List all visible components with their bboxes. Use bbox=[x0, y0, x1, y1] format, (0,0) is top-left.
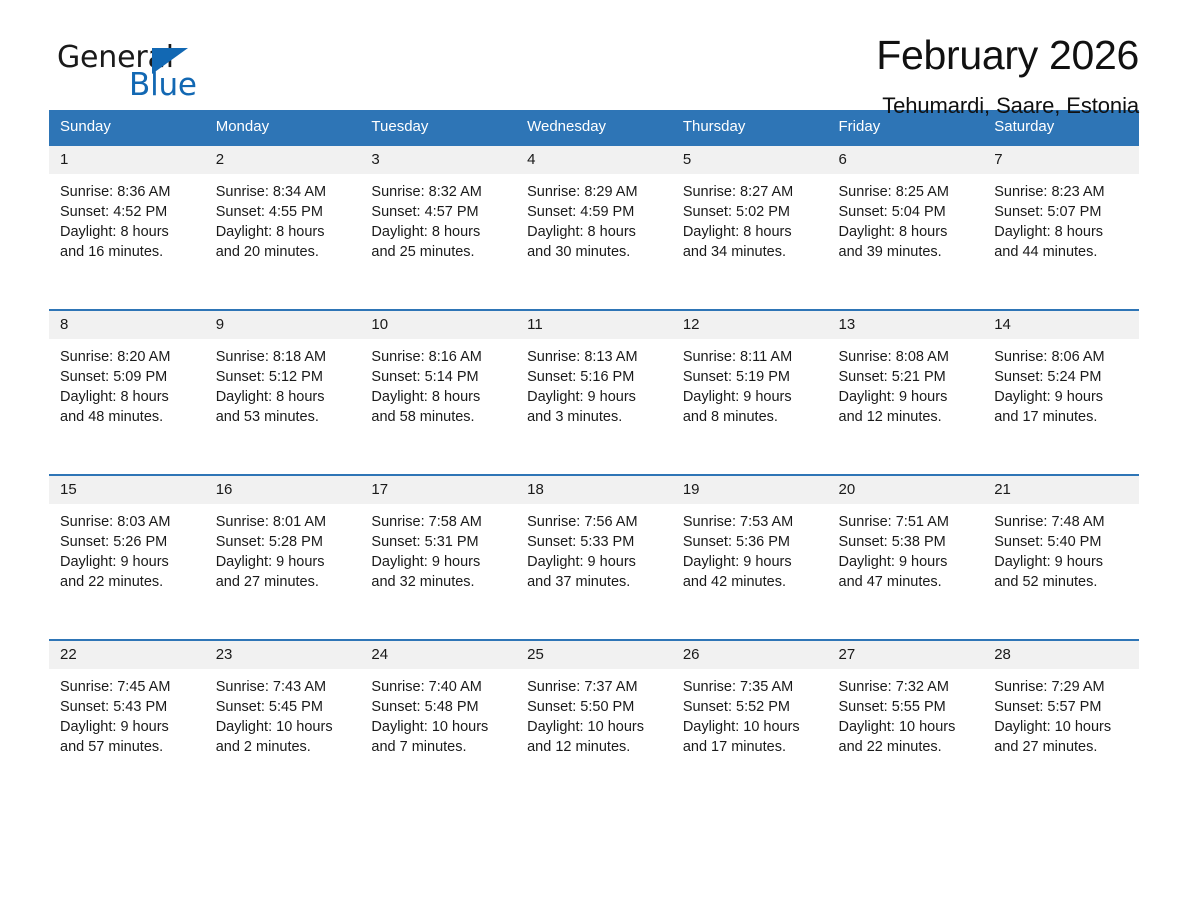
daylight-text-line1: Daylight: 8 hours bbox=[527, 222, 663, 242]
weekday-header-tuesday: Tuesday bbox=[360, 110, 516, 145]
sunrise-text: Sunrise: 7:37 AM bbox=[527, 677, 663, 697]
sunset-text: Sunset: 5:24 PM bbox=[994, 367, 1130, 387]
calendar-day-cell[interactable]: 3Sunrise: 8:32 AMSunset: 4:57 PMDaylight… bbox=[360, 145, 516, 310]
day-info: Sunrise: 7:40 AMSunset: 5:48 PMDaylight:… bbox=[360, 669, 516, 757]
calendar-day-cell[interactable]: 23Sunrise: 7:43 AMSunset: 5:45 PMDayligh… bbox=[205, 640, 361, 804]
daylight-text-line2: and 57 minutes. bbox=[60, 737, 196, 757]
day-cell-content: 19Sunrise: 7:53 AMSunset: 5:36 PMDayligh… bbox=[672, 476, 828, 639]
day-cell-content: 4Sunrise: 8:29 AMSunset: 4:59 PMDaylight… bbox=[516, 146, 672, 309]
sunrise-text: Sunrise: 7:40 AM bbox=[371, 677, 507, 697]
title-block: February 2026 Tehumardi, Saare, Estonia bbox=[876, 34, 1139, 119]
sunset-text: Sunset: 4:57 PM bbox=[371, 202, 507, 222]
daylight-text-line2: and 48 minutes. bbox=[60, 407, 196, 427]
page-header: General Blue February 2026 Tehumardi, Sa… bbox=[49, 0, 1139, 110]
day-cell-content: 1Sunrise: 8:36 AMSunset: 4:52 PMDaylight… bbox=[49, 146, 205, 309]
daylight-text-line1: Daylight: 9 hours bbox=[683, 387, 819, 407]
daylight-text-line2: and 52 minutes. bbox=[994, 572, 1130, 592]
weekday-header-sunday: Sunday bbox=[49, 110, 205, 145]
daylight-text-line2: and 25 minutes. bbox=[371, 242, 507, 262]
daylight-text-line1: Daylight: 9 hours bbox=[527, 387, 663, 407]
day-number: 18 bbox=[516, 476, 672, 504]
daylight-text-line2: and 30 minutes. bbox=[527, 242, 663, 262]
day-cell-content: 7Sunrise: 8:23 AMSunset: 5:07 PMDaylight… bbox=[983, 146, 1139, 309]
calendar-day-cell[interactable]: 1Sunrise: 8:36 AMSunset: 4:52 PMDaylight… bbox=[49, 145, 205, 310]
sunrise-text: Sunrise: 8:06 AM bbox=[994, 347, 1130, 367]
day-cell-content: 16Sunrise: 8:01 AMSunset: 5:28 PMDayligh… bbox=[205, 476, 361, 639]
daylight-text-line1: Daylight: 10 hours bbox=[371, 717, 507, 737]
day-info: Sunrise: 8:13 AMSunset: 5:16 PMDaylight:… bbox=[516, 339, 672, 427]
daylight-text-line1: Daylight: 9 hours bbox=[60, 717, 196, 737]
sunset-text: Sunset: 5:33 PM bbox=[527, 532, 663, 552]
sunset-text: Sunset: 5:52 PM bbox=[683, 697, 819, 717]
daylight-text-line1: Daylight: 10 hours bbox=[683, 717, 819, 737]
day-number: 3 bbox=[360, 146, 516, 174]
daylight-text-line1: Daylight: 8 hours bbox=[839, 222, 975, 242]
sunrise-text: Sunrise: 7:56 AM bbox=[527, 512, 663, 532]
calendar-day-cell[interactable]: 26Sunrise: 7:35 AMSunset: 5:52 PMDayligh… bbox=[672, 640, 828, 804]
day-number: 20 bbox=[828, 476, 984, 504]
calendar-day-cell[interactable]: 16Sunrise: 8:01 AMSunset: 5:28 PMDayligh… bbox=[205, 475, 361, 640]
daylight-text-line1: Daylight: 9 hours bbox=[527, 552, 663, 572]
daylight-text-line2: and 58 minutes. bbox=[371, 407, 507, 427]
sunrise-text: Sunrise: 7:35 AM bbox=[683, 677, 819, 697]
day-info: Sunrise: 7:51 AMSunset: 5:38 PMDaylight:… bbox=[828, 504, 984, 592]
sunset-text: Sunset: 5:19 PM bbox=[683, 367, 819, 387]
calendar-day-cell[interactable]: 11Sunrise: 8:13 AMSunset: 5:16 PMDayligh… bbox=[516, 310, 672, 475]
day-number: 11 bbox=[516, 311, 672, 339]
sunset-text: Sunset: 5:38 PM bbox=[839, 532, 975, 552]
day-number: 17 bbox=[360, 476, 516, 504]
calendar-day-cell[interactable]: 13Sunrise: 8:08 AMSunset: 5:21 PMDayligh… bbox=[828, 310, 984, 475]
day-cell-content: 11Sunrise: 8:13 AMSunset: 5:16 PMDayligh… bbox=[516, 311, 672, 474]
sunrise-text: Sunrise: 8:36 AM bbox=[60, 182, 196, 202]
calendar-day-cell[interactable]: 21Sunrise: 7:48 AMSunset: 5:40 PMDayligh… bbox=[983, 475, 1139, 640]
day-info: Sunrise: 8:11 AMSunset: 5:19 PMDaylight:… bbox=[672, 339, 828, 427]
day-number: 5 bbox=[672, 146, 828, 174]
day-cell-content: 28Sunrise: 7:29 AMSunset: 5:57 PMDayligh… bbox=[983, 641, 1139, 804]
calendar-day-cell[interactable]: 19Sunrise: 7:53 AMSunset: 5:36 PMDayligh… bbox=[672, 475, 828, 640]
sunset-text: Sunset: 5:09 PM bbox=[60, 367, 196, 387]
sunset-text: Sunset: 5:43 PM bbox=[60, 697, 196, 717]
day-number: 4 bbox=[516, 146, 672, 174]
calendar-week-row: 8Sunrise: 8:20 AMSunset: 5:09 PMDaylight… bbox=[49, 310, 1139, 475]
day-info: Sunrise: 8:08 AMSunset: 5:21 PMDaylight:… bbox=[828, 339, 984, 427]
day-cell-content: 3Sunrise: 8:32 AMSunset: 4:57 PMDaylight… bbox=[360, 146, 516, 309]
day-info: Sunrise: 7:53 AMSunset: 5:36 PMDaylight:… bbox=[672, 504, 828, 592]
sunset-text: Sunset: 5:50 PM bbox=[527, 697, 663, 717]
daylight-text-line2: and 16 minutes. bbox=[60, 242, 196, 262]
day-info: Sunrise: 7:48 AMSunset: 5:40 PMDaylight:… bbox=[983, 504, 1139, 592]
sunrise-text: Sunrise: 8:11 AM bbox=[683, 347, 819, 367]
calendar-day-cell[interactable]: 27Sunrise: 7:32 AMSunset: 5:55 PMDayligh… bbox=[828, 640, 984, 804]
calendar-day-cell[interactable]: 6Sunrise: 8:25 AMSunset: 5:04 PMDaylight… bbox=[828, 145, 984, 310]
daylight-text-line2: and 27 minutes. bbox=[216, 572, 352, 592]
daylight-text-line1: Daylight: 9 hours bbox=[994, 552, 1130, 572]
daylight-text-line1: Daylight: 9 hours bbox=[371, 552, 507, 572]
sunrise-text: Sunrise: 8:01 AM bbox=[216, 512, 352, 532]
sunrise-text: Sunrise: 8:16 AM bbox=[371, 347, 507, 367]
calendar-day-cell[interactable]: 5Sunrise: 8:27 AMSunset: 5:02 PMDaylight… bbox=[672, 145, 828, 310]
day-cell-content: 24Sunrise: 7:40 AMSunset: 5:48 PMDayligh… bbox=[360, 641, 516, 804]
day-cell-content: 22Sunrise: 7:45 AMSunset: 5:43 PMDayligh… bbox=[49, 641, 205, 804]
daylight-text-line1: Daylight: 8 hours bbox=[216, 387, 352, 407]
sunrise-text: Sunrise: 8:32 AM bbox=[371, 182, 507, 202]
sunrise-text: Sunrise: 8:27 AM bbox=[683, 182, 819, 202]
calendar-day-cell[interactable]: 9Sunrise: 8:18 AMSunset: 5:12 PMDaylight… bbox=[205, 310, 361, 475]
daylight-text-line2: and 8 minutes. bbox=[683, 407, 819, 427]
day-info: Sunrise: 7:37 AMSunset: 5:50 PMDaylight:… bbox=[516, 669, 672, 757]
calendar-day-cell[interactable]: 2Sunrise: 8:34 AMSunset: 4:55 PMDaylight… bbox=[205, 145, 361, 310]
day-cell-content: 14Sunrise: 8:06 AMSunset: 5:24 PMDayligh… bbox=[983, 311, 1139, 474]
daylight-text-line2: and 44 minutes. bbox=[994, 242, 1130, 262]
daylight-text-line1: Daylight: 8 hours bbox=[60, 387, 196, 407]
sunset-text: Sunset: 5:48 PM bbox=[371, 697, 507, 717]
day-info: Sunrise: 7:45 AMSunset: 5:43 PMDaylight:… bbox=[49, 669, 205, 757]
day-number: 7 bbox=[983, 146, 1139, 174]
daylight-text-line2: and 53 minutes. bbox=[216, 407, 352, 427]
day-cell-content: 21Sunrise: 7:48 AMSunset: 5:40 PMDayligh… bbox=[983, 476, 1139, 639]
logo-text-blue: Blue bbox=[129, 67, 197, 103]
day-cell-content: 15Sunrise: 8:03 AMSunset: 5:26 PMDayligh… bbox=[49, 476, 205, 639]
calendar-page: General Blue February 2026 Tehumardi, Sa… bbox=[0, 0, 1188, 918]
day-cell-content: 5Sunrise: 8:27 AMSunset: 5:02 PMDaylight… bbox=[672, 146, 828, 309]
sunset-text: Sunset: 5:40 PM bbox=[994, 532, 1130, 552]
day-number: 6 bbox=[828, 146, 984, 174]
day-number: 8 bbox=[49, 311, 205, 339]
daylight-text-line2: and 20 minutes. bbox=[216, 242, 352, 262]
calendar-day-cell[interactable]: 18Sunrise: 7:56 AMSunset: 5:33 PMDayligh… bbox=[516, 475, 672, 640]
day-number: 2 bbox=[205, 146, 361, 174]
day-number: 19 bbox=[672, 476, 828, 504]
sunrise-text: Sunrise: 7:53 AM bbox=[683, 512, 819, 532]
calendar-grid: SundayMondayTuesdayWednesdayThursdayFrid… bbox=[49, 110, 1139, 804]
day-info: Sunrise: 8:25 AMSunset: 5:04 PMDaylight:… bbox=[828, 174, 984, 262]
day-number: 9 bbox=[205, 311, 361, 339]
sunset-text: Sunset: 5:45 PM bbox=[216, 697, 352, 717]
day-number: 23 bbox=[205, 641, 361, 669]
day-info: Sunrise: 8:03 AMSunset: 5:26 PMDaylight:… bbox=[49, 504, 205, 592]
daylight-text-line1: Daylight: 8 hours bbox=[683, 222, 819, 242]
calendar-day-cell[interactable]: 25Sunrise: 7:37 AMSunset: 5:50 PMDayligh… bbox=[516, 640, 672, 804]
daylight-text-line1: Daylight: 10 hours bbox=[527, 717, 663, 737]
calendar-day-cell[interactable]: 7Sunrise: 8:23 AMSunset: 5:07 PMDaylight… bbox=[983, 145, 1139, 310]
daylight-text-line2: and 37 minutes. bbox=[527, 572, 663, 592]
day-info: Sunrise: 8:32 AMSunset: 4:57 PMDaylight:… bbox=[360, 174, 516, 262]
day-info: Sunrise: 8:20 AMSunset: 5:09 PMDaylight:… bbox=[49, 339, 205, 427]
day-number: 1 bbox=[49, 146, 205, 174]
day-cell-content: 2Sunrise: 8:34 AMSunset: 4:55 PMDaylight… bbox=[205, 146, 361, 309]
page-title: February 2026 bbox=[876, 34, 1139, 77]
daylight-text-line1: Daylight: 10 hours bbox=[839, 717, 975, 737]
calendar-day-cell[interactable]: 12Sunrise: 8:11 AMSunset: 5:19 PMDayligh… bbox=[672, 310, 828, 475]
daylight-text-line2: and 27 minutes. bbox=[994, 737, 1130, 757]
sunset-text: Sunset: 4:52 PM bbox=[60, 202, 196, 222]
day-number: 27 bbox=[828, 641, 984, 669]
page-subtitle: Tehumardi, Saare, Estonia bbox=[876, 93, 1139, 119]
daylight-text-line1: Daylight: 9 hours bbox=[683, 552, 819, 572]
daylight-text-line2: and 7 minutes. bbox=[371, 737, 507, 757]
daylight-text-line1: Daylight: 9 hours bbox=[839, 387, 975, 407]
daylight-text-line1: Daylight: 8 hours bbox=[216, 222, 352, 242]
day-number: 25 bbox=[516, 641, 672, 669]
day-cell-content: 26Sunrise: 7:35 AMSunset: 5:52 PMDayligh… bbox=[672, 641, 828, 804]
daylight-text-line2: and 3 minutes. bbox=[527, 407, 663, 427]
day-info: Sunrise: 7:29 AMSunset: 5:57 PMDaylight:… bbox=[983, 669, 1139, 757]
day-cell-content: 18Sunrise: 7:56 AMSunset: 5:33 PMDayligh… bbox=[516, 476, 672, 639]
calendar-day-cell[interactable]: 10Sunrise: 8:16 AMSunset: 5:14 PMDayligh… bbox=[360, 310, 516, 475]
sunrise-text: Sunrise: 8:03 AM bbox=[60, 512, 196, 532]
day-number: 16 bbox=[205, 476, 361, 504]
daylight-text-line1: Daylight: 8 hours bbox=[371, 222, 507, 242]
sunrise-text: Sunrise: 7:45 AM bbox=[60, 677, 196, 697]
sunrise-text: Sunrise: 8:18 AM bbox=[216, 347, 352, 367]
day-number: 22 bbox=[49, 641, 205, 669]
daylight-text-line2: and 34 minutes. bbox=[683, 242, 819, 262]
day-number: 14 bbox=[983, 311, 1139, 339]
weekday-header-wednesday: Wednesday bbox=[516, 110, 672, 145]
sunset-text: Sunset: 4:59 PM bbox=[527, 202, 663, 222]
daylight-text-line1: Daylight: 10 hours bbox=[994, 717, 1130, 737]
sunrise-text: Sunrise: 8:20 AM bbox=[60, 347, 196, 367]
sunrise-text: Sunrise: 8:08 AM bbox=[839, 347, 975, 367]
daylight-text-line2: and 17 minutes. bbox=[683, 737, 819, 757]
daylight-text-line1: Daylight: 8 hours bbox=[994, 222, 1130, 242]
day-cell-content: 20Sunrise: 7:51 AMSunset: 5:38 PMDayligh… bbox=[828, 476, 984, 639]
sunrise-text: Sunrise: 7:48 AM bbox=[994, 512, 1130, 532]
day-info: Sunrise: 8:23 AMSunset: 5:07 PMDaylight:… bbox=[983, 174, 1139, 262]
calendar-body: 1Sunrise: 8:36 AMSunset: 4:52 PMDaylight… bbox=[49, 145, 1139, 804]
sunset-text: Sunset: 5:14 PM bbox=[371, 367, 507, 387]
day-cell-content: 8Sunrise: 8:20 AMSunset: 5:09 PMDaylight… bbox=[49, 311, 205, 474]
calendar-week-row: 15Sunrise: 8:03 AMSunset: 5:26 PMDayligh… bbox=[49, 475, 1139, 640]
day-cell-content: 17Sunrise: 7:58 AMSunset: 5:31 PMDayligh… bbox=[360, 476, 516, 639]
daylight-text-line2: and 12 minutes. bbox=[527, 737, 663, 757]
calendar-week-row: 1Sunrise: 8:36 AMSunset: 4:52 PMDaylight… bbox=[49, 145, 1139, 310]
day-number: 12 bbox=[672, 311, 828, 339]
day-info: Sunrise: 8:34 AMSunset: 4:55 PMDaylight:… bbox=[205, 174, 361, 262]
sunrise-text: Sunrise: 7:58 AM bbox=[371, 512, 507, 532]
day-number: 13 bbox=[828, 311, 984, 339]
day-info: Sunrise: 7:56 AMSunset: 5:33 PMDaylight:… bbox=[516, 504, 672, 592]
day-info: Sunrise: 7:35 AMSunset: 5:52 PMDaylight:… bbox=[672, 669, 828, 757]
day-number: 24 bbox=[360, 641, 516, 669]
daylight-text-line1: Daylight: 9 hours bbox=[60, 552, 196, 572]
calendar-day-cell[interactable]: 24Sunrise: 7:40 AMSunset: 5:48 PMDayligh… bbox=[360, 640, 516, 804]
sunset-text: Sunset: 5:31 PM bbox=[371, 532, 507, 552]
calendar-day-cell[interactable]: 17Sunrise: 7:58 AMSunset: 5:31 PMDayligh… bbox=[360, 475, 516, 640]
sunset-text: Sunset: 5:55 PM bbox=[839, 697, 975, 717]
daylight-text-line1: Daylight: 9 hours bbox=[839, 552, 975, 572]
sunset-text: Sunset: 5:04 PM bbox=[839, 202, 975, 222]
day-number: 10 bbox=[360, 311, 516, 339]
daylight-text-line1: Daylight: 8 hours bbox=[60, 222, 196, 242]
sunset-text: Sunset: 5:21 PM bbox=[839, 367, 975, 387]
weekday-header-monday: Monday bbox=[205, 110, 361, 145]
sunrise-text: Sunrise: 8:23 AM bbox=[994, 182, 1130, 202]
daylight-text-line2: and 22 minutes. bbox=[60, 572, 196, 592]
day-info: Sunrise: 7:43 AMSunset: 5:45 PMDaylight:… bbox=[205, 669, 361, 757]
day-cell-content: 27Sunrise: 7:32 AMSunset: 5:55 PMDayligh… bbox=[828, 641, 984, 804]
calendar-day-cell[interactable]: 22Sunrise: 7:45 AMSunset: 5:43 PMDayligh… bbox=[49, 640, 205, 804]
sunrise-text: Sunrise: 8:25 AM bbox=[839, 182, 975, 202]
sunset-text: Sunset: 5:57 PM bbox=[994, 697, 1130, 717]
calendar-day-cell[interactable]: 15Sunrise: 8:03 AMSunset: 5:26 PMDayligh… bbox=[49, 475, 205, 640]
day-info: Sunrise: 8:16 AMSunset: 5:14 PMDaylight:… bbox=[360, 339, 516, 427]
sunset-text: Sunset: 5:07 PM bbox=[994, 202, 1130, 222]
daylight-text-line1: Daylight: 9 hours bbox=[216, 552, 352, 572]
sunrise-text: Sunrise: 8:13 AM bbox=[527, 347, 663, 367]
sunrise-text: Sunrise: 8:29 AM bbox=[527, 182, 663, 202]
day-info: Sunrise: 7:58 AMSunset: 5:31 PMDaylight:… bbox=[360, 504, 516, 592]
day-info: Sunrise: 8:06 AMSunset: 5:24 PMDaylight:… bbox=[983, 339, 1139, 427]
calendar-day-cell[interactable]: 14Sunrise: 8:06 AMSunset: 5:24 PMDayligh… bbox=[983, 310, 1139, 475]
day-number: 28 bbox=[983, 641, 1139, 669]
day-cell-content: 9Sunrise: 8:18 AMSunset: 5:12 PMDaylight… bbox=[205, 311, 361, 474]
day-info: Sunrise: 8:27 AMSunset: 5:02 PMDaylight:… bbox=[672, 174, 828, 262]
daylight-text-line2: and 42 minutes. bbox=[683, 572, 819, 592]
day-cell-content: 23Sunrise: 7:43 AMSunset: 5:45 PMDayligh… bbox=[205, 641, 361, 804]
calendar-day-cell[interactable]: 8Sunrise: 8:20 AMSunset: 5:09 PMDaylight… bbox=[49, 310, 205, 475]
daylight-text-line2: and 17 minutes. bbox=[994, 407, 1130, 427]
sunrise-text: Sunrise: 7:32 AM bbox=[839, 677, 975, 697]
daylight-text-line1: Daylight: 9 hours bbox=[994, 387, 1130, 407]
sunset-text: Sunset: 5:16 PM bbox=[527, 367, 663, 387]
day-cell-content: 10Sunrise: 8:16 AMSunset: 5:14 PMDayligh… bbox=[360, 311, 516, 474]
day-cell-content: 12Sunrise: 8:11 AMSunset: 5:19 PMDayligh… bbox=[672, 311, 828, 474]
daylight-text-line2: and 39 minutes. bbox=[839, 242, 975, 262]
weekday-header-thursday: Thursday bbox=[672, 110, 828, 145]
sunset-text: Sunset: 5:28 PM bbox=[216, 532, 352, 552]
daylight-text-line1: Daylight: 10 hours bbox=[216, 717, 352, 737]
daylight-text-line1: Daylight: 8 hours bbox=[371, 387, 507, 407]
sunset-text: Sunset: 4:55 PM bbox=[216, 202, 352, 222]
calendar-week-row: 22Sunrise: 7:45 AMSunset: 5:43 PMDayligh… bbox=[49, 640, 1139, 804]
calendar-day-cell[interactable]: 20Sunrise: 7:51 AMSunset: 5:38 PMDayligh… bbox=[828, 475, 984, 640]
day-number: 15 bbox=[49, 476, 205, 504]
calendar-day-cell[interactable]: 28Sunrise: 7:29 AMSunset: 5:57 PMDayligh… bbox=[983, 640, 1139, 804]
day-info: Sunrise: 7:32 AMSunset: 5:55 PMDaylight:… bbox=[828, 669, 984, 757]
day-info: Sunrise: 8:18 AMSunset: 5:12 PMDaylight:… bbox=[205, 339, 361, 427]
daylight-text-line2: and 2 minutes. bbox=[216, 737, 352, 757]
sunrise-text: Sunrise: 7:29 AM bbox=[994, 677, 1130, 697]
sunset-text: Sunset: 5:12 PM bbox=[216, 367, 352, 387]
day-number: 26 bbox=[672, 641, 828, 669]
daylight-text-line2: and 12 minutes. bbox=[839, 407, 975, 427]
sunset-text: Sunset: 5:36 PM bbox=[683, 532, 819, 552]
sunrise-text: Sunrise: 7:43 AM bbox=[216, 677, 352, 697]
calendar-day-cell[interactable]: 4Sunrise: 8:29 AMSunset: 4:59 PMDaylight… bbox=[516, 145, 672, 310]
day-cell-content: 25Sunrise: 7:37 AMSunset: 5:50 PMDayligh… bbox=[516, 641, 672, 804]
sunset-text: Sunset: 5:26 PM bbox=[60, 532, 196, 552]
daylight-text-line2: and 47 minutes. bbox=[839, 572, 975, 592]
general-blue-logo[interactable]: General Blue bbox=[49, 40, 249, 102]
daylight-text-line2: and 32 minutes. bbox=[371, 572, 507, 592]
day-info: Sunrise: 8:36 AMSunset: 4:52 PMDaylight:… bbox=[49, 174, 205, 262]
day-info: Sunrise: 8:01 AMSunset: 5:28 PMDaylight:… bbox=[205, 504, 361, 592]
day-cell-content: 13Sunrise: 8:08 AMSunset: 5:21 PMDayligh… bbox=[828, 311, 984, 474]
day-number: 21 bbox=[983, 476, 1139, 504]
day-info: Sunrise: 8:29 AMSunset: 4:59 PMDaylight:… bbox=[516, 174, 672, 262]
sunrise-text: Sunrise: 8:34 AM bbox=[216, 182, 352, 202]
daylight-text-line2: and 22 minutes. bbox=[839, 737, 975, 757]
day-cell-content: 6Sunrise: 8:25 AMSunset: 5:04 PMDaylight… bbox=[828, 146, 984, 309]
sunset-text: Sunset: 5:02 PM bbox=[683, 202, 819, 222]
sunrise-text: Sunrise: 7:51 AM bbox=[839, 512, 975, 532]
